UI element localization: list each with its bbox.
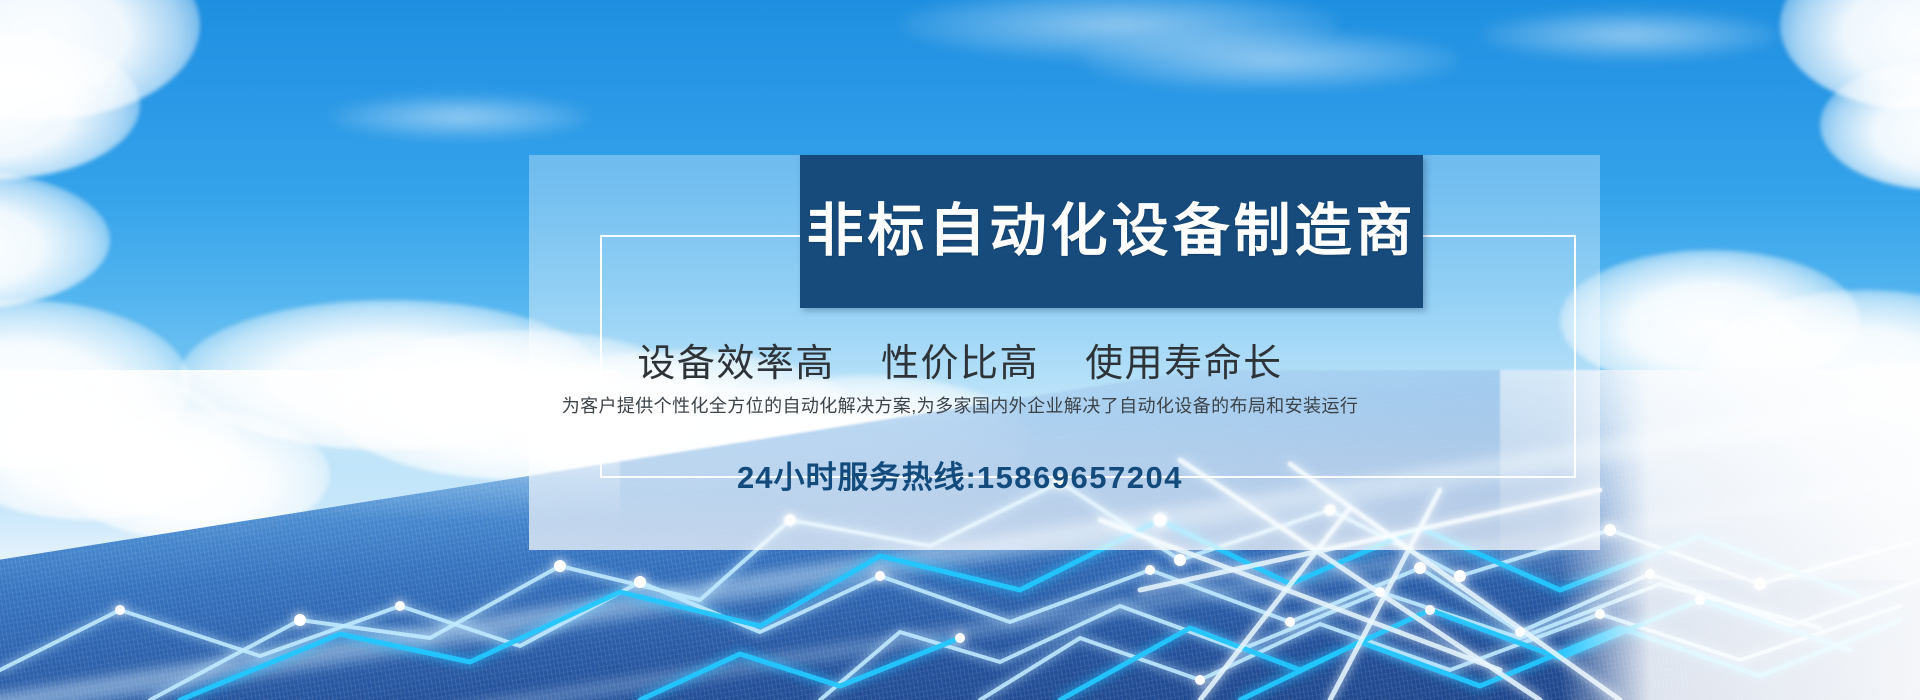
headline-box: 非标自动化设备制造商 (800, 155, 1423, 308)
hotline-number[interactable]: 15869657204 (977, 460, 1183, 495)
headline-title: 非标自动化设备制造商 (807, 203, 1417, 260)
hotline-row: 24小时服务热线:15869657204 (0, 452, 1920, 497)
description-text: 为客户提供个性化全方位的自动化解决方案,为多家国内外企业解决了自动化设备的布局和… (0, 392, 1920, 418)
subhead-benefit-2: 性价比高 (881, 343, 1039, 385)
subhead-benefit-1: 设备效率高 (637, 343, 835, 385)
hotline-label: 24小时服务热线: (737, 460, 977, 495)
subhead-row: 设备效率高 性价比高 使用寿命长 (0, 332, 1920, 387)
subhead-benefit-3: 使用寿命长 (1085, 343, 1283, 385)
hero-banner: 非标自动化设备制造商 设备效率高 性价比高 使用寿命长 为客户提供个性化全方位的… (0, 0, 1920, 700)
